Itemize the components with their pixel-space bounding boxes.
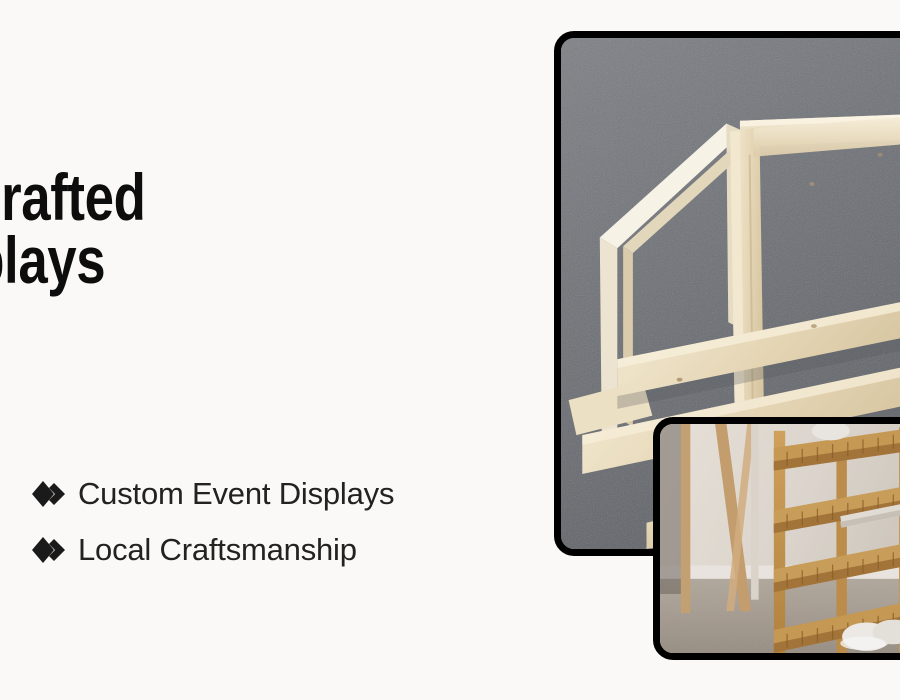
list-item: Local Craftsmanship bbox=[32, 522, 394, 578]
list-item-label: Local Craftsmanship bbox=[78, 532, 357, 568]
list-item: Custom Event Displays bbox=[32, 466, 394, 522]
diamond-chevron-icon bbox=[32, 481, 66, 507]
photo-artwork bbox=[660, 424, 900, 653]
feature-list: Custom Event Displays Local Craftsmanshi… bbox=[32, 466, 394, 578]
bamboo-shoe-rack-photo bbox=[653, 417, 900, 660]
page-title: le, Handcrafted vent Displays bbox=[0, 166, 330, 293]
copy-column: le, Handcrafted vent Displays Get A Quot… bbox=[0, 0, 470, 700]
diamond-chevron-icon bbox=[32, 537, 66, 563]
hero-banner: le, Handcrafted vent Displays Get A Quot… bbox=[0, 0, 900, 700]
list-item-label: Custom Event Displays bbox=[78, 476, 394, 512]
